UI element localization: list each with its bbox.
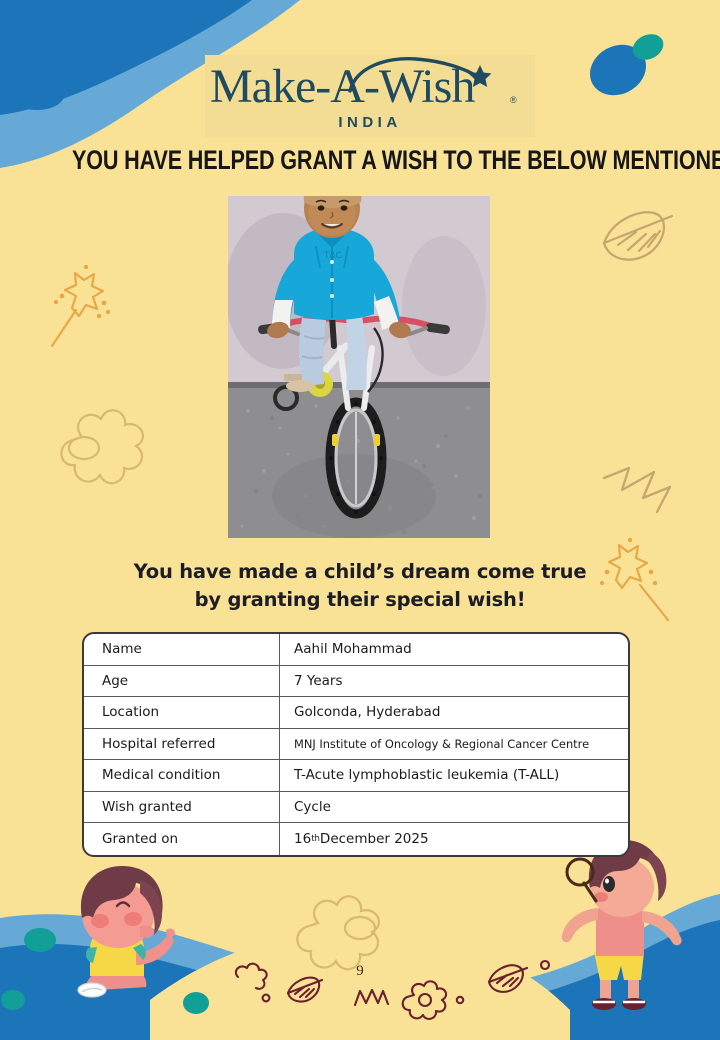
bottom-left-teal-dot: [24, 928, 56, 952]
table-row: Medical condition T-Acute lymphoblastic …: [84, 760, 628, 792]
right-zigzag-icon: [604, 468, 670, 512]
row-label-granted-on: Granted on: [84, 823, 280, 855]
row-label-name: Name: [84, 634, 280, 665]
bottom-left-teal-dot-2: [1, 990, 25, 1010]
top-right-teal-ellipse: [628, 29, 667, 64]
row-label-hospital-referred: Hospital referred: [84, 729, 280, 760]
row-value-wish-granted: Cycle: [280, 792, 628, 823]
svg-text:®: ®: [510, 95, 517, 105]
table-row: Hospital referred MNJ Institute of Oncol…: [84, 729, 628, 761]
page-number: 9: [0, 963, 720, 980]
granted-on-ordinal: th: [311, 834, 320, 844]
row-label-medical-condition: Medical condition: [84, 760, 280, 791]
table-row: Wish granted Cycle: [84, 792, 628, 824]
left-magic-wand-icon: [52, 266, 109, 346]
bottom-wave-dark: [0, 920, 720, 1040]
bottom-mid-teal-dot: [183, 992, 209, 1014]
left-flower-icon: [61, 410, 143, 483]
row-label-age: Age: [84, 666, 280, 697]
right-leaf-icon: [604, 212, 672, 259]
subtitle-line-2: by granting their special wish!: [195, 588, 526, 611]
table-row: Granted on 16th December 2025: [84, 823, 628, 855]
bottom-yellow-tongue: [150, 930, 570, 1040]
row-label-location: Location: [84, 697, 280, 728]
logo-wordmark-icon: Make-A-Wish ®: [210, 55, 530, 113]
bottom-squiggle-icon: [355, 990, 388, 1005]
certificate-subtitle: You have made a child’s dream come true …: [0, 558, 720, 614]
table-row: Name Aahil Mohammad: [84, 634, 628, 666]
granted-on-month-year: December 2025: [320, 831, 429, 847]
table-row: Location Golconda, Hyderabad: [84, 697, 628, 729]
make-a-wish-logo: Make-A-Wish ® INDIA: [205, 55, 535, 137]
wish-child-photo: T&C: [228, 196, 490, 538]
svg-text:T&C: T&C: [324, 250, 343, 260]
bottom-small-flower-icon: [403, 981, 446, 1019]
certificate-page: Make-A-Wish ® INDIA YOU HAVE HELPED GRAN…: [0, 0, 720, 1040]
top-left-wave-dot: [10, 80, 64, 110]
bottom-center-flower-icon: [297, 896, 379, 969]
row-value-medical-condition: T-Acute lymphoblastic leukemia (T-ALL): [280, 760, 628, 791]
svg-text:Make-A-Wish: Make-A-Wish: [210, 60, 475, 113]
subtitle-line-1: You have made a child’s dream come true: [134, 560, 587, 583]
wish-details-table: Name Aahil Mohammad Age 7 Years Location…: [82, 632, 630, 857]
row-value-location: Golconda, Hyderabad: [280, 697, 628, 728]
bottom-dot-2: [457, 997, 463, 1003]
row-value-hospital-referred: MNJ Institute of Oncology & Regional Can…: [280, 729, 628, 760]
top-right-blue-ellipse: [581, 35, 655, 105]
bottom-dot-1: [263, 995, 270, 1002]
row-value-age: 7 Years: [280, 666, 628, 697]
bottom-right-boy-illustration: [562, 840, 682, 1010]
row-label-wish-granted: Wish granted: [84, 792, 280, 823]
page-title: YOU HAVE HELPED GRANT A WISH TO THE BELO…: [72, 145, 648, 176]
row-value-granted-on: 16th December 2025: [280, 823, 628, 855]
bottom-leaf-icon-1: [288, 978, 322, 1002]
row-value-name: Aahil Mohammad: [280, 634, 628, 665]
logo-country-label: INDIA: [338, 114, 401, 131]
granted-on-day: 16: [294, 831, 311, 847]
table-row: Age 7 Years: [84, 666, 628, 698]
